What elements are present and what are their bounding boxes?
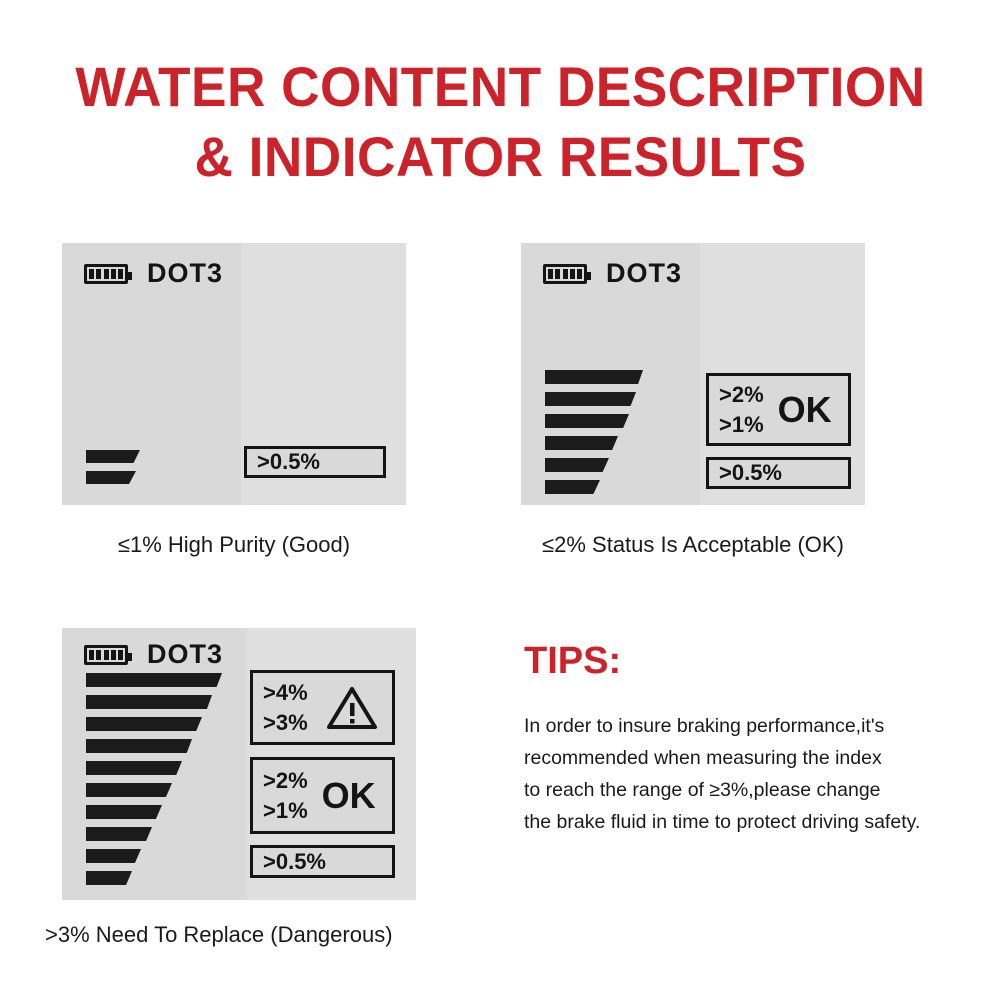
tips-section: TIPS: In order to insure braking perform… [524, 640, 964, 838]
level-bar [86, 471, 136, 484]
lcd-status-row: DOT3 [84, 641, 223, 668]
threshold-percent-column: >4% >3% [253, 673, 308, 742]
threshold-box-0-5: >0.5% [244, 446, 386, 478]
lcd-panel-danger: DOT3 >4% >3% [62, 628, 416, 900]
tips-line: recommended when measuring the index [524, 742, 964, 774]
panel-caption-ok: ≤2% Status Is Acceptable (OK) [521, 532, 865, 558]
panel-caption-danger: >3% Need To Replace (Dangerous) [45, 922, 393, 948]
threshold-box-ok: >2% >1% OK [706, 373, 851, 446]
tips-line: to reach the range of ≥3%,please change [524, 774, 964, 806]
threshold-percent: >1% [719, 410, 764, 440]
level-bar [86, 849, 141, 863]
level-bar [545, 414, 629, 428]
lcd-status-row: DOT3 [84, 260, 223, 287]
tips-line: In order to insure braking performance,i… [524, 710, 964, 742]
lcd-panel-good: DOT3 >0.5% [62, 243, 406, 505]
battery-full-icon [84, 645, 128, 665]
level-bar [86, 827, 152, 841]
threshold-percent: >0.5% [719, 458, 782, 488]
battery-full-icon [84, 264, 128, 284]
verdict-label-ok: OK [322, 778, 376, 814]
level-bar [86, 717, 202, 731]
verdict-label-ok: OK [778, 392, 832, 428]
level-bar [545, 370, 643, 384]
panel-caption-good: ≤1% High Purity (Good) [62, 532, 406, 558]
level-bar [545, 480, 600, 494]
battery-full-icon [543, 264, 587, 284]
level-bar [86, 695, 212, 709]
threshold-percent: >2% [719, 380, 764, 410]
fluid-type-label: DOT3 [606, 260, 682, 287]
page-title: WATER CONTENT DESCRIPTION & INDICATOR RE… [0, 52, 1001, 192]
threshold-percent: >3% [263, 708, 308, 738]
water-level-bar-gauge [86, 673, 222, 885]
water-level-bar-gauge [545, 370, 643, 494]
level-bar [86, 450, 140, 463]
level-bar [86, 783, 172, 797]
threshold-percent: >0.5% [263, 847, 326, 877]
fluid-type-label: DOT3 [147, 641, 223, 668]
tips-line: the brake fluid in time to protect drivi… [524, 806, 964, 838]
threshold-box-warning: >4% >3% [250, 670, 395, 745]
tips-heading: TIPS: [524, 640, 964, 682]
threshold-box-ok: >2% >1% OK [250, 757, 395, 834]
level-bar [545, 392, 636, 406]
level-bar [545, 436, 618, 450]
threshold-percent-column: >2% >1% [709, 376, 764, 443]
tips-body: In order to insure braking performance,i… [524, 710, 964, 838]
level-bar [545, 458, 609, 472]
threshold-percent: >2% [263, 766, 308, 796]
threshold-box-0-5: >0.5% [250, 845, 395, 878]
level-bar [86, 673, 222, 687]
page-title-line-2: & INDICATOR RESULTS [25, 122, 976, 192]
lcd-status-row: DOT3 [543, 260, 682, 287]
threshold-percent: >4% [263, 678, 308, 708]
level-bar [86, 805, 162, 819]
lcd-panel-ok: DOT3 >2% >1% OK >0.5% [521, 243, 865, 505]
threshold-percent-column: >2% >1% [253, 760, 308, 831]
threshold-percent: >1% [263, 796, 308, 826]
level-bar [86, 761, 182, 775]
warning-triangle-icon [326, 685, 378, 731]
level-bar [86, 739, 192, 753]
threshold-box-0-5: >0.5% [706, 457, 851, 489]
level-bar [86, 871, 132, 885]
infographic-page: WATER CONTENT DESCRIPTION & INDICATOR RE… [0, 0, 1001, 1001]
threshold-percent: >0.5% [257, 447, 320, 477]
page-title-line-1: WATER CONTENT DESCRIPTION [25, 52, 976, 122]
fluid-type-label: DOT3 [147, 260, 223, 287]
water-level-bar-gauge [86, 450, 140, 484]
